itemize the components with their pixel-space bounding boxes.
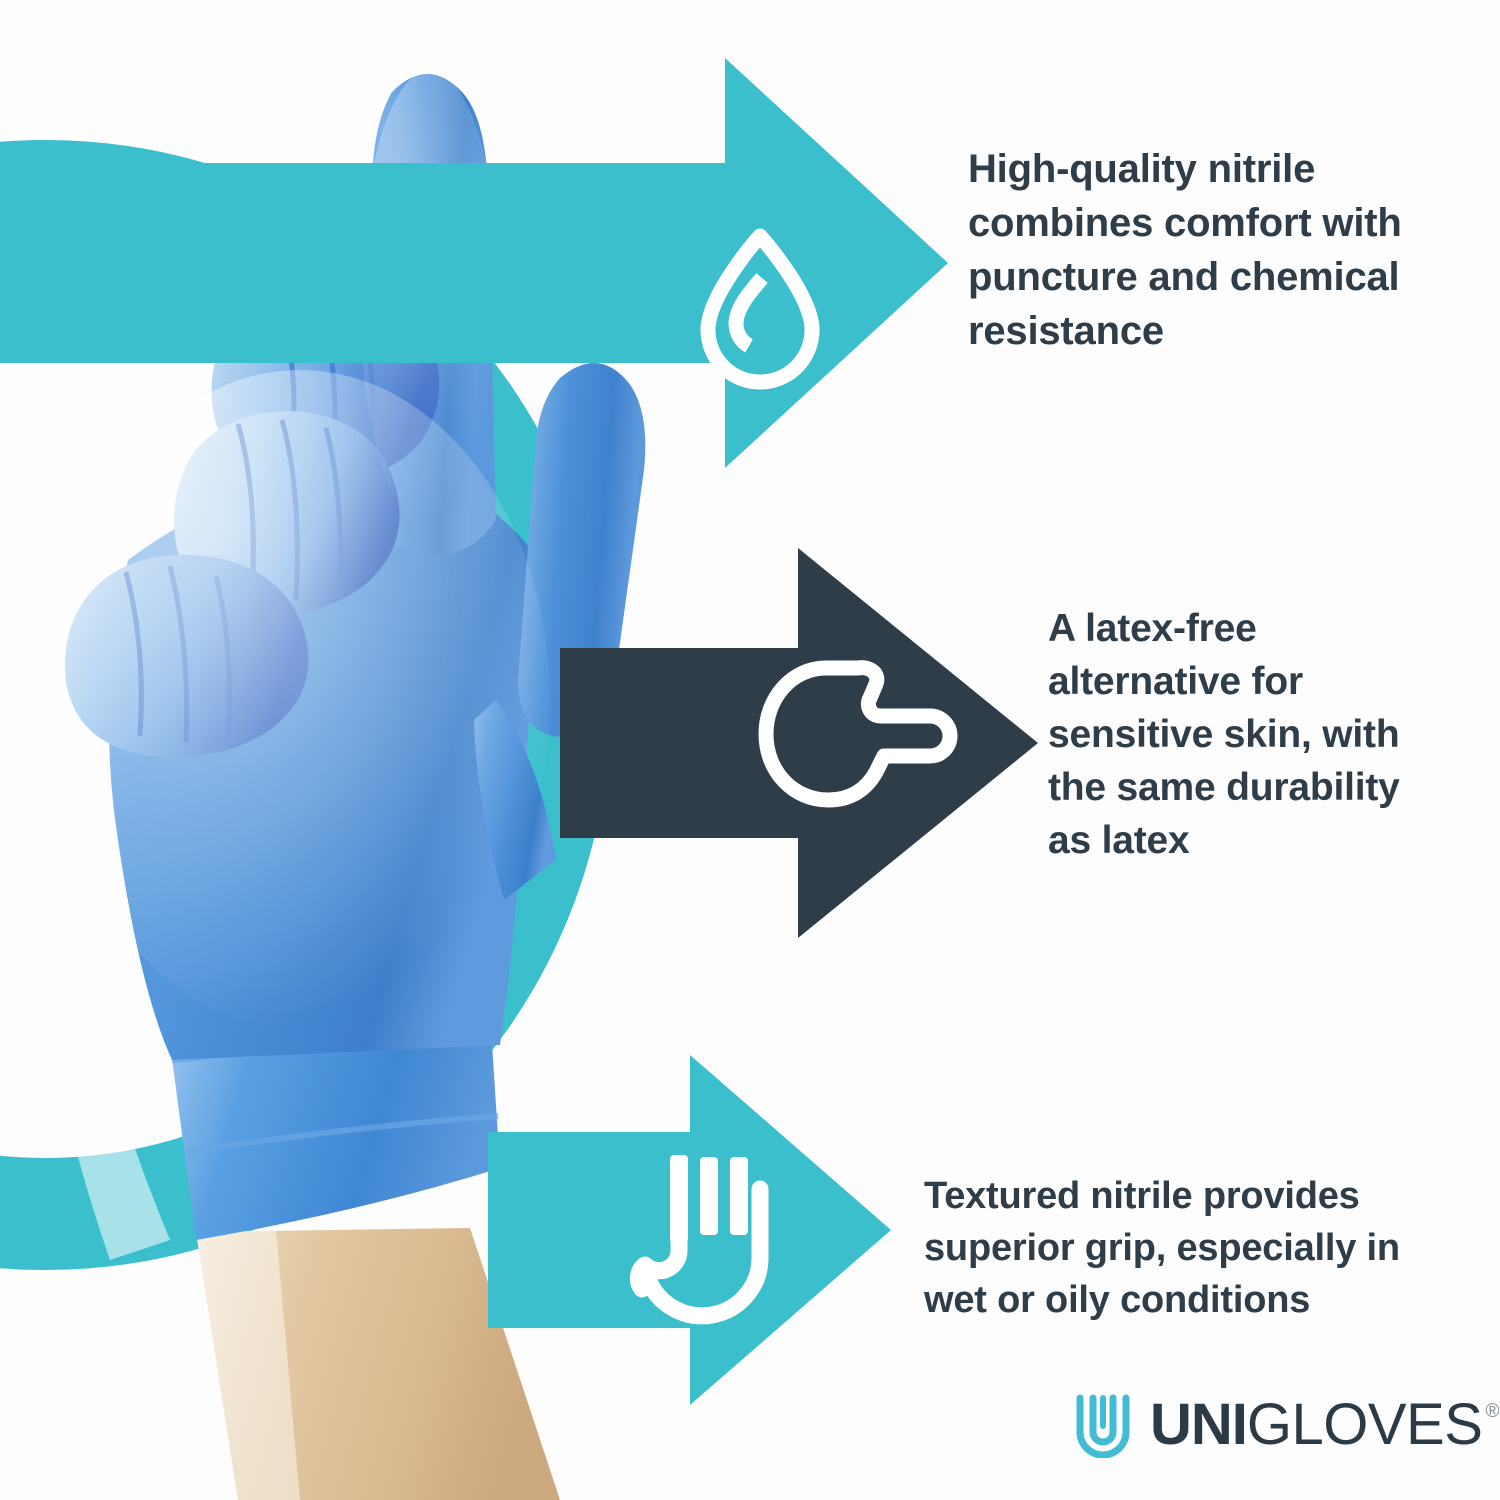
feature-text-nitrile-quality: High-quality nitrile combines comfort wi… bbox=[968, 142, 1418, 358]
feature-arrow-textured-grip bbox=[488, 1055, 893, 1405]
brand-logo: UNI GLOVES ® bbox=[1072, 1392, 1499, 1458]
registered-trademark-symbol: ® bbox=[1485, 1402, 1499, 1421]
brand-wordmark: UNI GLOVES ® bbox=[1150, 1396, 1499, 1454]
nitrile-gloves-infographic: High-quality nitrile combines comfort wi… bbox=[0, 0, 1500, 1500]
feature-text-latex-free: A latex-free alternative for sensitive s… bbox=[1048, 602, 1433, 867]
brand-name-gloves: GLOVES bbox=[1247, 1396, 1483, 1454]
unigloves-u-icon bbox=[1072, 1392, 1134, 1458]
feature-arrow-latex-free bbox=[560, 548, 1040, 938]
feature-arrow-nitrile-quality bbox=[0, 58, 950, 468]
brand-name-uni: UNI bbox=[1150, 1396, 1247, 1454]
feature-text-textured-grip: Textured nitrile provides superior grip,… bbox=[924, 1170, 1410, 1326]
